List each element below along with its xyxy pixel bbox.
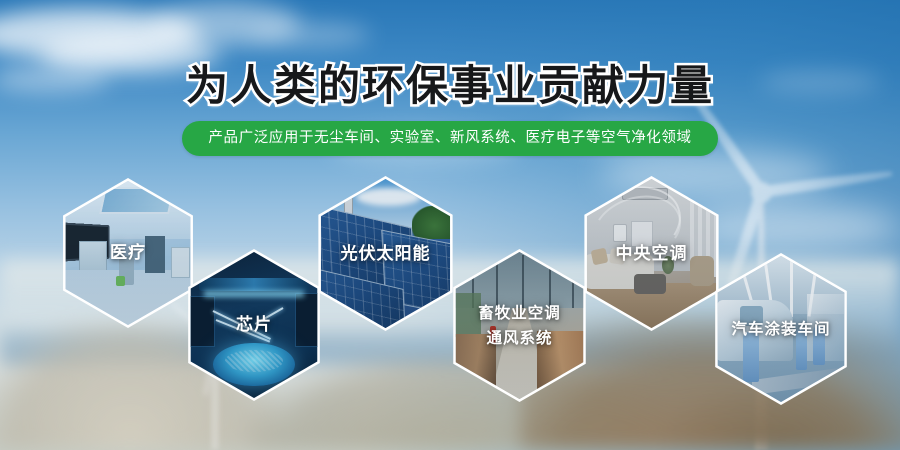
hex-tile-auto-paint[interactable]: 汽车涂装车间 <box>705 253 857 405</box>
promo-banner: 为人类的环保事业贡献力量 产品广泛应用于无尘车间、实验室、新风系统、医疗电子等空… <box>0 0 900 450</box>
hex-image <box>311 179 460 328</box>
subtitle-container: 产品广泛应用于无尘车间、实验室、新风系统、医疗电子等空气净化领域 <box>0 121 900 156</box>
hex-image <box>708 256 854 402</box>
hex-image <box>181 252 327 398</box>
page-title: 为人类的环保事业贡献力量 <box>0 62 900 110</box>
hex-tile-solar[interactable]: 光伏太阳能 <box>308 176 463 331</box>
subtitle-badge: 产品广泛应用于无尘车间、实验室、新风系统、医疗电子等空气净化领域 <box>182 121 717 156</box>
hex-image <box>446 252 593 399</box>
cloud-icon <box>250 22 370 48</box>
hex-image <box>577 179 726 328</box>
